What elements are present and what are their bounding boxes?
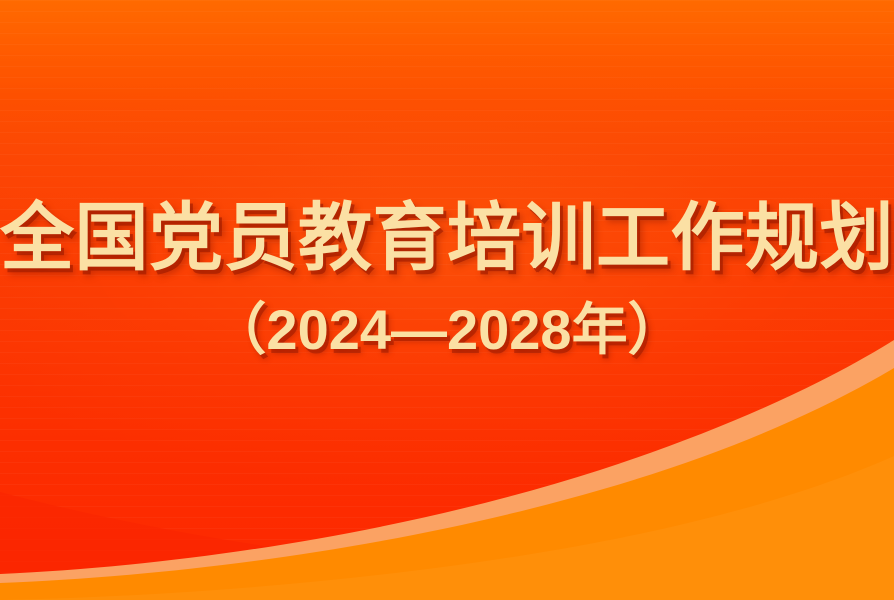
page-title: 全国党员教育培训工作规划 (0, 196, 894, 280)
poster-banner: 全国党员教育培训工作规划 （2024—2028年） (0, 0, 894, 600)
banner-text-block: 全国党员教育培训工作规划 （2024—2028年） (0, 0, 894, 600)
page-subtitle-period: （2024—2028年） (210, 298, 683, 362)
